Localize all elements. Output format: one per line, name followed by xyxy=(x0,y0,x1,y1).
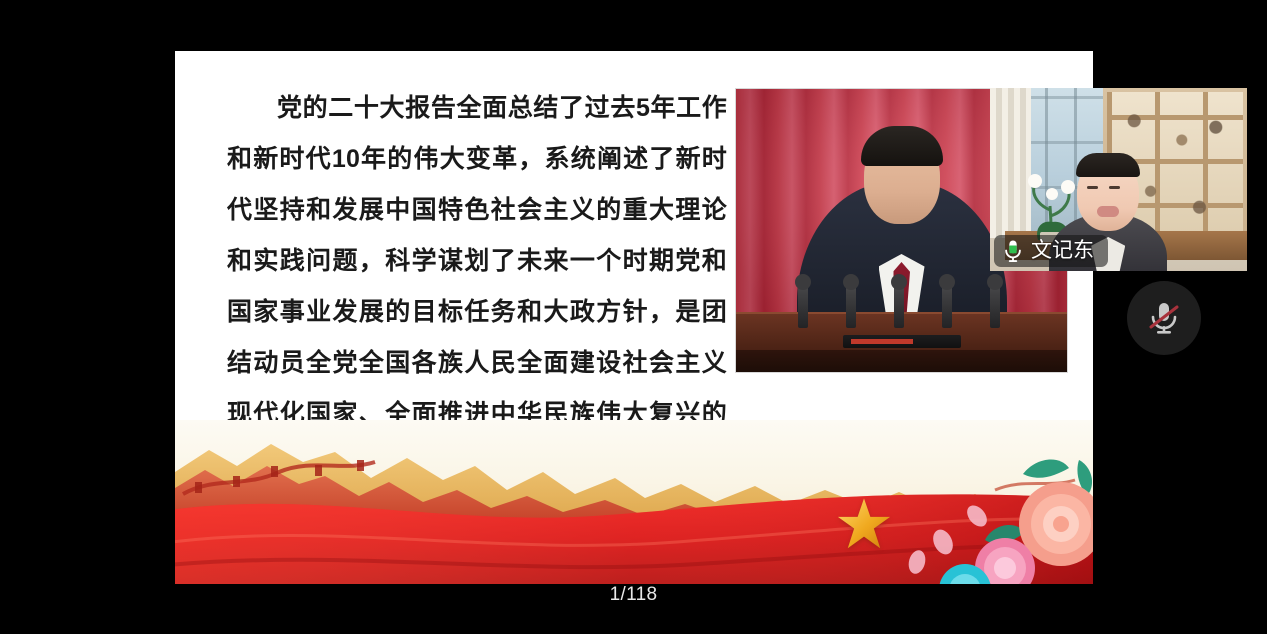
photo-podium-nameplate xyxy=(843,335,961,348)
mute-microphone-button[interactable] xyxy=(1127,281,1201,355)
peony-flowers-illustration xyxy=(873,450,1093,584)
microphone-icon xyxy=(1002,239,1024,263)
participant-hair xyxy=(1076,153,1140,177)
shared-slide[interactable]: 党的二十大报告全面总结了过去5年工作和新时代10年的伟大变革，系统阐述了新时代坚… xyxy=(175,51,1093,584)
patriotic-decorative-banner xyxy=(175,420,1093,584)
photo-podium-front xyxy=(736,350,1067,372)
participant-mouth xyxy=(1097,206,1119,217)
participant-name-label: 文记东 xyxy=(1031,239,1094,263)
slide-page-indicator: 1/118 xyxy=(0,583,1267,607)
microphone-muted-icon xyxy=(1144,298,1184,338)
video-conference-stage: 党的二十大报告全面总结了过去5年工作和新时代10年的伟大变革，系统阐述了新时代坚… xyxy=(0,0,1267,634)
participant-name-badge: 文记东 xyxy=(994,235,1108,267)
participant-video-tile[interactable]: 文记东 xyxy=(990,88,1247,271)
participant-eye-right xyxy=(1109,186,1120,189)
photo-podium-microphones xyxy=(792,264,1012,328)
participant-eye-left xyxy=(1087,186,1098,189)
